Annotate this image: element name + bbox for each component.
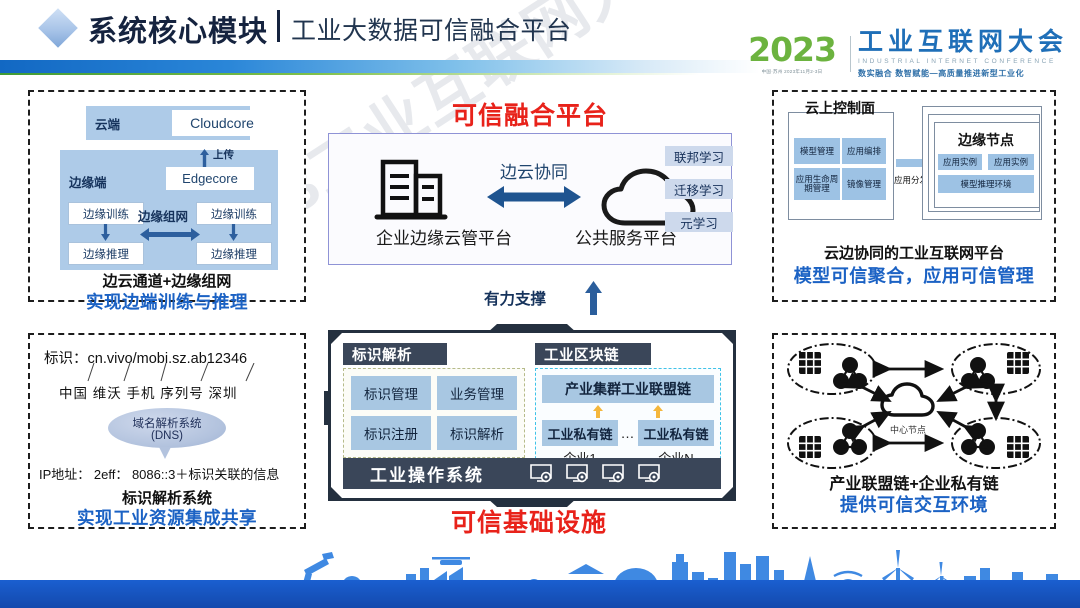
cloud-tier-label: 云端: [95, 114, 120, 133]
logo-name-en: INDUSTRIAL INTERNET CONFERENCE: [858, 58, 1068, 65]
upload-arrow-icon: [200, 149, 209, 167]
edge-train-right: 边缘训练: [196, 202, 272, 225]
monitor-gear-icon: [566, 464, 588, 483]
panel1-caption-black: 边云通道+边缘组网: [30, 270, 304, 291]
corner-tr: [721, 332, 734, 345]
private-chain-1: 工业私有链: [542, 420, 618, 446]
slide-root: 2023工业互联网大会 系统核心模块 工业大数据可信融合平台 2023 中国·苏…: [0, 0, 1080, 608]
panel-edge-cloud: 云端 Cloudcore 边缘端 上传 Edgecore 边缘训练 边缘训练 边…: [28, 90, 306, 302]
center-node-label: 中心节点: [890, 424, 926, 435]
dns-ellipse: 域名解析系统 (DNS): [108, 408, 226, 448]
down-arrow-left-icon: [101, 224, 110, 241]
chain-up-arrow-left-icon: [593, 405, 603, 418]
os-icon-group: [530, 464, 660, 483]
page-title: 系统核心模块: [88, 8, 268, 50]
center-title: 可信融合平台: [320, 96, 740, 132]
model-runtime: 模型推理环境: [938, 175, 1034, 193]
monitor-gear-icon: [602, 464, 624, 483]
private-chain-row: 工业私有链 … 工业私有链: [542, 420, 714, 446]
chain-ellipsis: …: [621, 425, 636, 441]
private-chain-n: 工业私有链: [638, 420, 714, 446]
water-band: [0, 580, 1080, 608]
left-platform-label: 企业边缘云管平台: [329, 224, 559, 249]
tag-federated-learning: 联邦学习: [665, 146, 733, 166]
edge-node-title: 边缘节点: [934, 130, 1038, 150]
logo-year-sub: 中国·苏州 2023年11月2-3日: [762, 69, 823, 75]
building-icon: [374, 156, 448, 220]
infrastructure-caption: 可信基础设施: [328, 503, 730, 539]
app-instance-1: 应用实例: [938, 154, 982, 170]
edge-network-arrow-icon: [140, 228, 200, 241]
panel3-caption-black: 云边协同的工业互联网平台: [774, 242, 1054, 263]
tag-transfer-learning: 迁移学习: [665, 179, 733, 199]
ip-address-line: IP地址： 2eff： 8086::3＋标识关联的信息: [39, 464, 279, 483]
upload-label: 上传: [213, 147, 234, 162]
identity-tick-lines: [58, 363, 264, 383]
dns-label-en: (DNS): [108, 430, 226, 442]
fusion-platform-box: 企业边缘云管平台 边云协同 公共服务平台 联邦学习 迁移学习 元学习: [328, 133, 732, 265]
double-arrow-icon: [487, 186, 581, 208]
panel-cloud-edge: 云上控制面 模型管理 应用编排 应用生命周期管理 镜像管理 应用分发 边缘节点 …: [772, 90, 1056, 302]
monitor-gear-icon: [530, 464, 552, 483]
panel3-caption-blue: 模型可信聚合，应用可信管理: [774, 262, 1054, 288]
dns-down-arrow-icon: [159, 447, 171, 459]
infra-identity-section: 标识解析 标识管理 业务管理 标识注册 标识解析: [343, 343, 525, 458]
dns-label-cn: 域名解析系统: [108, 415, 226, 431]
infra-blockchain-header: 工业区块链: [535, 343, 651, 365]
support-up-arrow-icon: [585, 281, 602, 315]
panel2-caption-blue: 实现工业资源集成共享: [30, 505, 304, 530]
collab-label: 边云协同: [469, 158, 599, 183]
chain-up-arrows: [542, 403, 714, 420]
bottom-skyline-band: [0, 546, 1080, 608]
panel4-caption-blue: 提供可信交互环境: [774, 491, 1054, 517]
industrial-os-label: 工业操作系统: [370, 461, 484, 486]
app-instance-2: 应用实例: [988, 154, 1034, 170]
down-arrow-right-icon: [229, 224, 238, 241]
cell-model-manage: 模型管理: [794, 138, 840, 164]
logo-slogan: 数实融合 数智赋能—高质量推进新型工业化: [858, 68, 1068, 79]
cell-image-manage: 镜像管理: [842, 168, 886, 200]
title-divider: [277, 10, 280, 42]
corner-bl: [330, 486, 343, 499]
infra-cell-id-resolve: 标识解析: [437, 416, 517, 450]
edge-train-left: 边缘训练: [68, 202, 144, 225]
cell-app-lifecycle: 应用生命周期管理: [794, 168, 840, 200]
infra-cell-id-register: 标识注册: [351, 416, 431, 450]
panel1-caption-blue: 实现边端训练与推理: [30, 289, 304, 314]
industrial-os-bar: 工业操作系统: [343, 458, 721, 489]
notch-top: [487, 324, 577, 333]
edge-tier-box: 边缘端 上传 Edgecore 边缘训练 边缘训练 边缘推理 边缘推理 边缘组网: [60, 150, 278, 270]
logo-year: 2023: [748, 33, 836, 66]
cell-app-orchestrate: 应用编排: [842, 138, 886, 164]
notch-left: [324, 391, 331, 425]
control-plane-title: 云上控制面: [788, 98, 892, 118]
conference-logo: 2023 中国·苏州 2023年11月2-3日 工业互联网大会 INDUSTRI…: [748, 30, 1068, 78]
alliance-chain-box: 产业集群工业联盟链: [542, 375, 714, 403]
chain-up-arrow-right-icon: [653, 405, 663, 418]
monitor-gear-icon: [638, 464, 660, 483]
panel-identity-resolution: 标识：cn.vivo/mobi.sz.ab12346 中国 维沃 手机 序列号 …: [28, 333, 306, 529]
edge-infer-left: 边缘推理: [68, 242, 144, 265]
infra-cell-id-manage: 标识管理: [351, 376, 431, 410]
logo-name-cn: 工业互联网大会: [858, 30, 1068, 55]
blockchain-topology-diagram: 中心节点: [784, 343, 1044, 469]
page-subtitle: 工业大数据可信融合平台: [291, 11, 572, 47]
control-plane-box: [788, 112, 894, 220]
cloudcore-box: Cloudcore: [172, 110, 272, 136]
corner-br: [721, 486, 734, 499]
edge-tier-label: 边缘端: [69, 172, 107, 191]
panel-blockchain-network: 中心节点 产业联盟链+企业私有链 提供可信交互环境: [772, 333, 1056, 529]
infra-identity-grid: 标识管理 业务管理 标识注册 标识解析: [343, 368, 525, 458]
infra-blockchain-section: 工业区块链 产业集群工业联盟链 工业私有链 … 工业私有链: [535, 343, 721, 474]
edgecore-box: Edgecore: [166, 167, 254, 190]
infra-cell-biz-manage: 业务管理: [437, 376, 517, 410]
edge-network-label: 边缘组网: [138, 206, 188, 225]
diamond-bullet-icon: [38, 8, 78, 48]
header-rule-blue: [0, 60, 760, 73]
logo-divider: [850, 36, 851, 72]
support-label: 有力支撑: [484, 287, 546, 309]
header-rule-green: [0, 73, 700, 75]
identity-terms: 中国 维沃 手机 序列号 深圳: [59, 382, 238, 402]
infra-identity-header: 标识解析: [343, 343, 447, 365]
cloud-tier-row: 云端 Cloudcore: [86, 106, 250, 140]
tag-meta-learning: 元学习: [665, 212, 733, 232]
corner-tl: [330, 332, 343, 345]
edge-infer-right: 边缘推理: [196, 242, 272, 265]
trusted-infrastructure-box: 标识解析 标识管理 业务管理 标识注册 标识解析 工业区块链 产业集群工业联盟链: [328, 330, 736, 501]
